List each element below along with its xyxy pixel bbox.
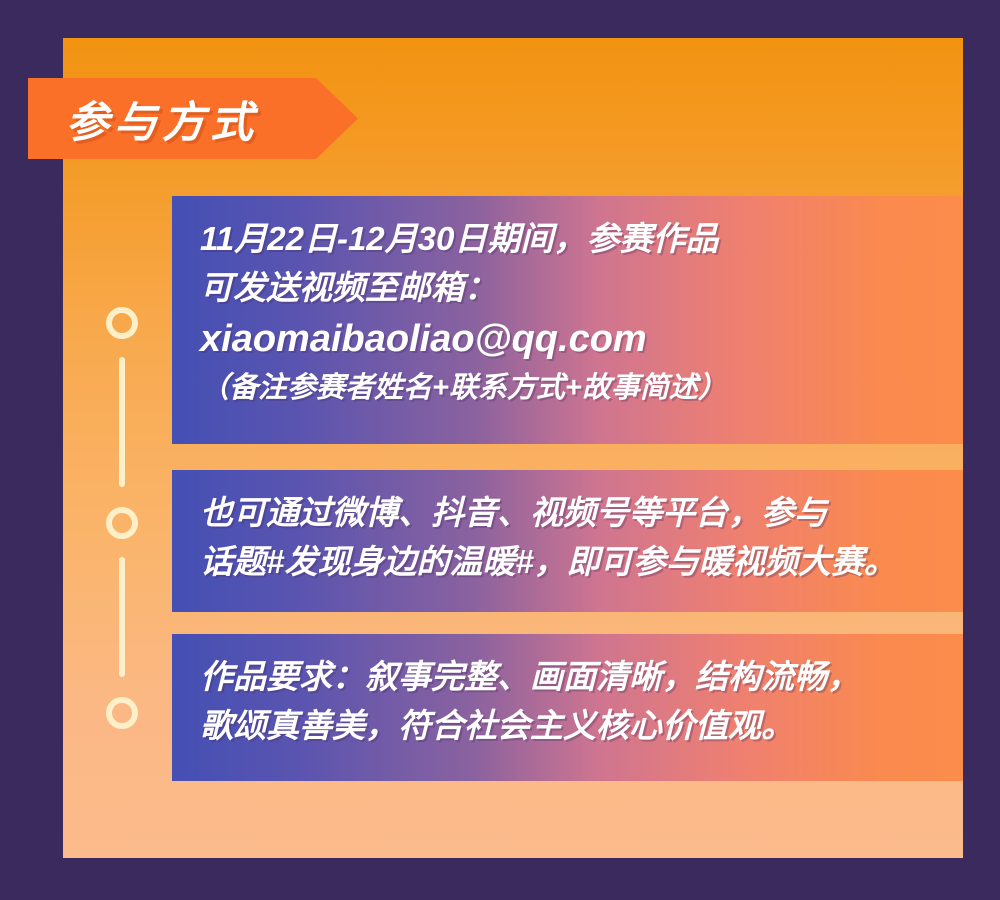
submission-email-note: （备注参赛者姓名+联系方式+故事简述） [200, 366, 939, 410]
social-platform-card: 也可通过微博、抖音、视频号等平台，参与 话题#发现身边的温暖#，即可参与暖视频大… [172, 470, 963, 612]
card-2-line-1: 也可通过微博、抖音、视频号等平台，参与 [200, 488, 939, 537]
submission-email-card: 11月22日-12月30日期间，参赛作品 可发送视频至邮箱： xiaomaiba… [172, 196, 963, 444]
step-3-marker-icon [106, 697, 138, 729]
step-2-marker-icon [106, 507, 138, 539]
poster-root: 参与方式 11月22日-12月30日期间，参赛作品 可发送视频至邮箱： xiao… [0, 0, 1000, 900]
card-3-line-2: 歌颂真善美，符合社会主义核心价值观。 [200, 701, 939, 750]
connector-2 [119, 557, 125, 677]
card-1-line-2: 可发送视频至邮箱： [200, 263, 939, 312]
page-title: 参与方式 [66, 88, 258, 150]
timeline [98, 295, 154, 745]
connector-1 [119, 357, 125, 487]
card-1-line-1: 11月22日-12月30日期间，参赛作品 [200, 214, 939, 263]
card-2-line-2: 话题#发现身边的温暖#，即可参与暖视频大赛。 [200, 537, 939, 586]
section-title-banner: 参与方式 [28, 78, 358, 159]
card-3-line-1: 作品要求：叙事完整、画面清晰，结构流畅， [200, 652, 939, 701]
step-1-marker-icon [106, 307, 138, 339]
requirements-card: 作品要求：叙事完整、画面清晰，结构流畅， 歌颂真善美，符合社会主义核心价值观。 [172, 634, 963, 781]
submission-email-address: xiaomaibaoliao@qq.com [200, 312, 939, 366]
